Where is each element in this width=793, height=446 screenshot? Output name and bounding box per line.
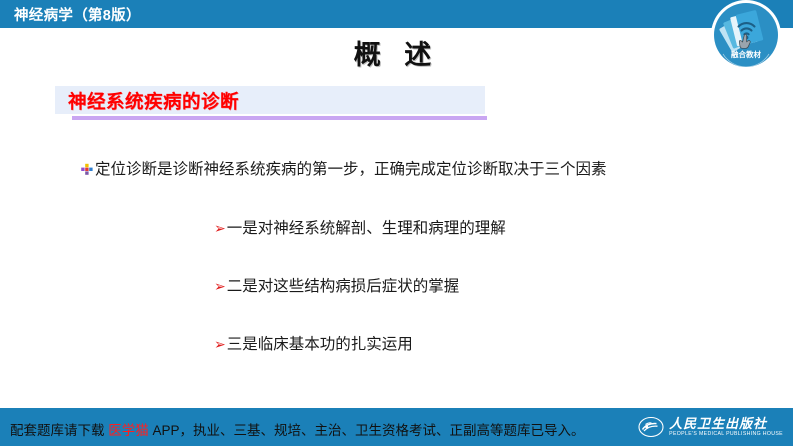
section-heading: 神经系统疾病的诊断 <box>68 88 239 114</box>
promo-highlight: 医学猫 <box>108 423 149 438</box>
arrow-bullet-icon: ➢ <box>214 218 226 239</box>
publisher-name-en: PEOPLE'S MEDICAL PUBLISHING HOUSE <box>669 432 783 437</box>
sub-bullet-1-text: 一是对神经系统解剖、生理和病理的理解 <box>227 218 506 239</box>
page-title: 概 述 <box>0 33 793 72</box>
sub-bullet-2-text: 二是对这些结构病损后症状的掌握 <box>227 276 460 297</box>
diamond-bullet-icon <box>80 163 94 181</box>
promo-suffix: APP，执业、三基、规培、主治、卫生资格考试、正副高等题库已导入。 <box>149 423 585 438</box>
sub-bullet-1: ➢ 一是对神经系统解剖、生理和病理的理解 <box>214 218 506 239</box>
arrow-bullet-icon: ➢ <box>214 276 226 297</box>
section-underline <box>72 116 487 120</box>
promo-prefix: 配套题库请下载 <box>10 423 108 438</box>
arrow-bullet-icon: ➢ <box>214 334 226 355</box>
top-banner: 神经病学（第8版） <box>0 0 793 28</box>
sub-bullet-2: ➢ 二是对这些结构病损后症状的掌握 <box>214 276 459 297</box>
publisher-name-cn: 人民卫生出版社 <box>669 417 783 430</box>
publisher-logo-group: 人民卫生出版社 PEOPLE'S MEDICAL PUBLISHING HOUS… <box>638 414 783 440</box>
pmph-logo-icon <box>638 414 664 440</box>
bottom-banner: 配套题库请下载 医学猫 APP，执业、三基、规培、主治、卫生资格考试、正副高等题… <box>0 408 793 446</box>
lead-bullet-text: 定位诊断是诊断神经系统疾病的第一步，正确完成定位诊断取决于三个因素 <box>95 160 607 180</box>
lead-bullet: 定位诊断是诊断神经系统疾病的第一步，正确完成定位诊断取决于三个因素 <box>80 160 607 180</box>
sub-bullet-3: ➢ 三是临床基本功的扎实运用 <box>214 334 413 355</box>
book-title: 神经病学（第8版） <box>14 4 141 25</box>
sub-bullet-3-text: 三是临床基本功的扎实运用 <box>227 334 413 355</box>
publisher-names: 人民卫生出版社 PEOPLE'S MEDICAL PUBLISHING HOUS… <box>669 417 783 437</box>
promo-text: 配套题库请下载 医学猫 APP，执业、三基、规培、主治、卫生资格考试、正副高等题… <box>10 419 585 439</box>
